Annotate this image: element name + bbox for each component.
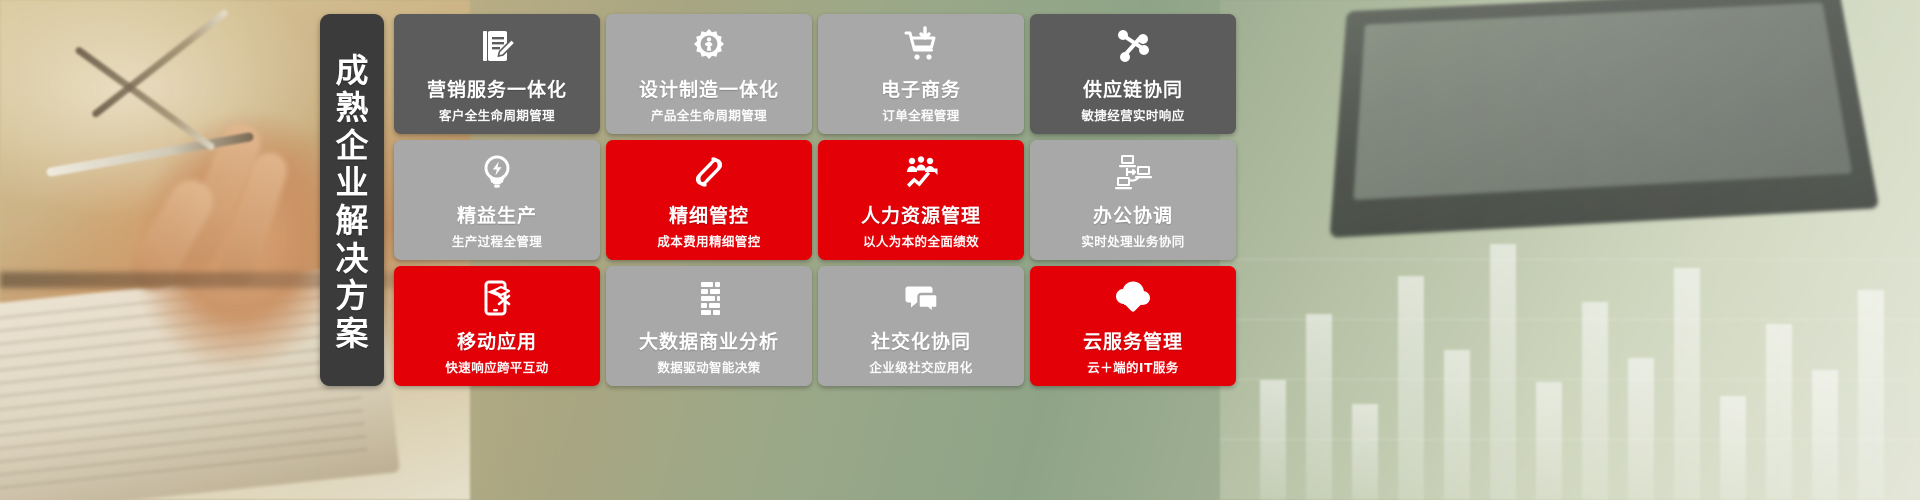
card-subtitle: 实时处理业务协同	[1081, 231, 1184, 250]
lightbulb-bolt-icon	[477, 150, 517, 194]
title-char: 成	[336, 52, 369, 90]
card-title: 社交化协同	[871, 327, 971, 354]
cloud-download-icon	[1113, 276, 1153, 320]
card-title: 供应链协同	[1083, 75, 1183, 102]
vertical-title-panel: 成 熟 企 业 解 决 方 案	[320, 14, 384, 386]
gear-person-icon	[689, 24, 729, 68]
solution-card-design-manufacture[interactable]: 设计制造一体化 产品全生命周期管理	[606, 14, 812, 134]
connected-computers-icon	[1113, 150, 1153, 194]
shopping-cart-download-icon	[901, 24, 941, 68]
solution-card-grid: 营销服务一体化 客户全生命周期管理 设计制造一体化 产品全生命周期管理	[394, 14, 1236, 386]
solution-card-social-collaboration[interactable]: 社交化协同 企业级社交应用化	[818, 266, 1024, 386]
solution-card-lean-production[interactable]: 精益生产 生产过程全管理	[394, 140, 600, 260]
card-subtitle: 敏捷经营实时响应	[1081, 105, 1184, 124]
solution-card-ecommerce[interactable]: 电子商务 订单全程管理	[818, 14, 1024, 134]
card-subtitle: 订单全程管理	[882, 105, 959, 124]
card-subtitle: 快速响应跨平互动	[445, 357, 548, 376]
solution-card-office-collaboration[interactable]: 办公协调 实时处理业务协同	[1030, 140, 1236, 260]
title-char: 决	[336, 240, 369, 278]
mobile-app-icon	[477, 276, 517, 320]
title-char: 解	[336, 202, 369, 240]
solution-card-human-resources[interactable]: 人力资源管理 以人为本的全面绩效	[818, 140, 1024, 260]
solution-card-cost-control[interactable]: 精细管控 成本费用精细管控	[606, 140, 812, 260]
document-edit-icon	[477, 24, 517, 68]
card-title: 云服务管理	[1083, 327, 1183, 354]
title-char: 企	[336, 127, 369, 165]
card-title: 精益生产	[457, 201, 537, 228]
people-growth-icon	[901, 150, 941, 194]
chat-bubbles-icon	[901, 276, 941, 320]
solution-card-mobile-app[interactable]: 移动应用 快速响应跨平互动	[394, 266, 600, 386]
card-title: 精细管控	[669, 201, 749, 228]
card-subtitle: 产品全生命周期管理	[651, 105, 767, 124]
title-char: 案	[336, 315, 369, 353]
title-char: 方	[336, 277, 369, 315]
card-title: 电子商务	[881, 75, 961, 102]
paperclip-link-icon	[689, 150, 729, 194]
card-title: 设计制造一体化	[639, 75, 779, 102]
title-char: 熟	[336, 89, 369, 127]
title-char: 业	[336, 164, 369, 202]
card-title: 办公协调	[1093, 201, 1173, 228]
card-title: 人力资源管理	[861, 201, 981, 228]
solutions-board: 成 熟 企 业 解 决 方 案 营销服务一体化 客户全生命周期管理	[320, 14, 1236, 386]
data-bars-icon	[689, 276, 729, 320]
card-subtitle: 数据驱动智能决策	[657, 357, 760, 376]
solution-card-supply-chain[interactable]: 供应链协同 敏捷经营实时响应	[1030, 14, 1236, 134]
card-subtitle: 生产过程全管理	[452, 231, 542, 250]
card-title: 移动应用	[457, 327, 537, 354]
card-subtitle: 云＋端的IT服务	[1087, 357, 1178, 376]
card-title: 营销服务一体化	[427, 75, 567, 102]
network-share-icon	[1113, 24, 1153, 68]
card-title: 大数据商业分析	[639, 327, 779, 354]
solution-card-big-data-analytics[interactable]: 大数据商业分析 数据驱动智能决策	[606, 266, 812, 386]
card-subtitle: 客户全生命周期管理	[439, 105, 555, 124]
card-subtitle: 成本费用精细管控	[657, 231, 760, 250]
card-subtitle: 以人为本的全面绩效	[863, 231, 979, 250]
card-subtitle: 企业级社交应用化	[869, 357, 972, 376]
solution-card-marketing-service[interactable]: 营销服务一体化 客户全生命周期管理	[394, 14, 600, 134]
solution-card-cloud-service[interactable]: 云服务管理 云＋端的IT服务	[1030, 266, 1236, 386]
